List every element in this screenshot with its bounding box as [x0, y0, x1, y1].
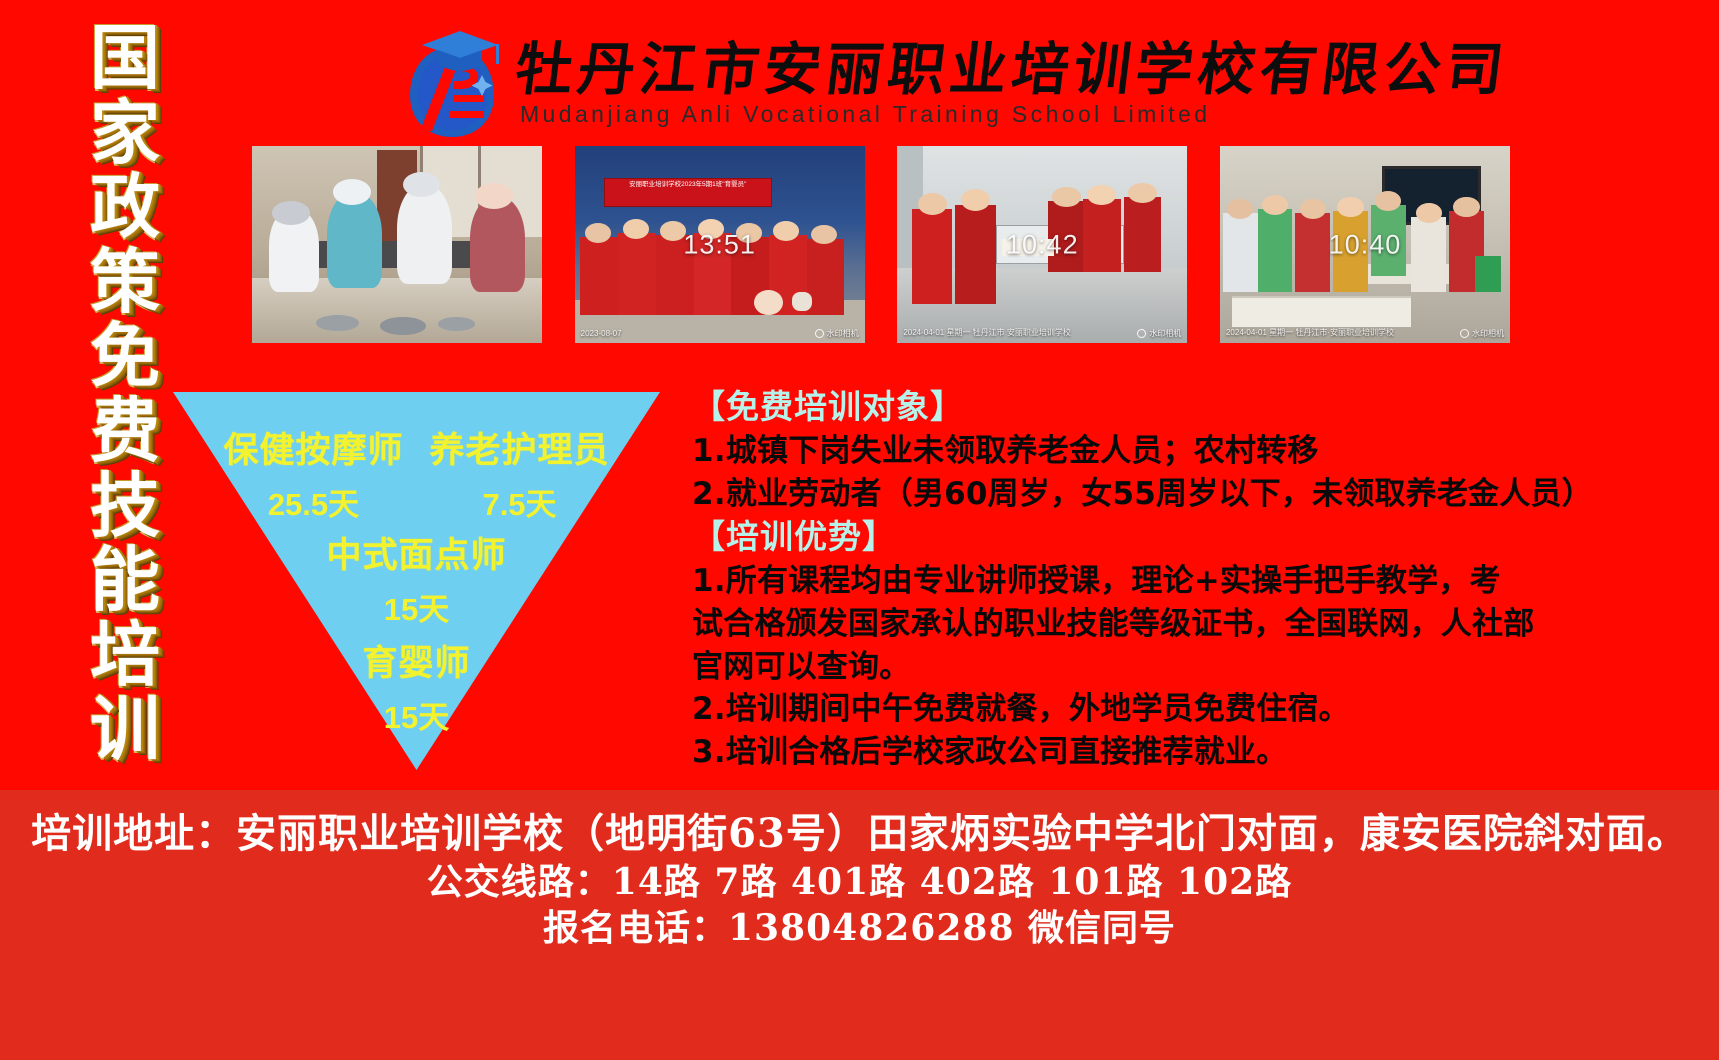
- info-target-item: 2.就业劳动者（男60周岁，女55周岁以下，未领取养老金人员）: [692, 473, 1692, 516]
- info-advantage-item: 官网可以查询。: [692, 646, 1692, 689]
- photo-classroom: 10:40 2024-04-01 星期一 牡丹江市·安丽职业培训学校 水印相机: [1220, 146, 1510, 343]
- footer: 培训地址：安丽职业培训学校（地明街63号）田家炳实验中学北门对面，康安医院斜对面…: [0, 790, 1719, 1060]
- course-item-pastry: 中式面点师 15天: [173, 527, 660, 629]
- photo-strip: 安丽职业培训学校2023年5期1班"育婴员" 13: [252, 146, 1510, 343]
- course-item-massage: 保健按摩师 25.5天: [223, 422, 403, 524]
- vertical-title-char: 政: [90, 173, 160, 242]
- course-days: 15天: [173, 584, 660, 629]
- poster-root: 国 家 政 策 免 费 技 能 培 训: [0, 0, 1719, 1060]
- info-block: 【免费培训对象】 1.城镇下岗失业未领取养老金人员；农村转移 2.就业劳动者（男…: [692, 386, 1692, 774]
- course-days: 7.5天: [482, 479, 556, 524]
- photo-banner: 安丽职业培训学校2023年5期1班"育婴员": [604, 178, 772, 208]
- vertical-title-char: 免: [90, 322, 160, 391]
- photo-timestamp: 10:40: [1329, 229, 1402, 260]
- photo-timestamp: 10:42: [1006, 229, 1079, 260]
- course-name: 养老护理员: [430, 422, 610, 473]
- photo-watermark-label: 水印相机: [827, 328, 859, 339]
- school-name-cn: 牡丹江市安丽职业培训学校有限公司: [512, 40, 1511, 100]
- course-triangle: 保健按摩师 25.5天 养老护理员 7.5天 中式面点师 15天 育婴师 15天: [173, 392, 660, 770]
- info-heading-target: 【免费培训对象】: [692, 386, 1692, 428]
- vertical-title-char: 能: [90, 546, 160, 615]
- course-name: 中式面点师: [173, 527, 660, 578]
- photo-meta: 2023-08-07: [581, 329, 622, 338]
- header: 牡丹江市安丽职业培训学校有限公司 Mudanjiang Anli Vocatio…: [398, 24, 1298, 144]
- info-advantage-item: 2.培训期间中午免费就餐，外地学员免费住宿。: [692, 688, 1692, 731]
- vertical-title-char: 培: [90, 621, 160, 690]
- graduation-cap-book-logo-icon: [398, 25, 506, 143]
- photo-watermark-brand: 水印相机: [815, 328, 859, 339]
- photo-baking-class: [252, 146, 542, 343]
- camera-icon: [1137, 329, 1146, 338]
- photo-watermark-label: 水印相机: [1149, 328, 1181, 339]
- vertical-title-char: 家: [90, 99, 160, 168]
- course-row-top: 保健按摩师 25.5天 养老护理员 7.5天: [173, 422, 660, 524]
- photo-watermark-brand: 水印相机: [1137, 328, 1181, 339]
- info-advantage-item: 试合格颁发国家承认的职业技能等级证书，全国联网，人社部: [692, 603, 1692, 646]
- vertical-title-char: 技: [90, 472, 160, 541]
- info-advantage-item: 1.所有课程均由专业讲师授课，理论+实操手把手教学，考: [692, 560, 1692, 603]
- footer-address: 培训地址：安丽职业培训学校（地明街63号）田家炳实验中学北门对面，康安医院斜对面…: [0, 808, 1719, 859]
- info-target-item: 1.城镇下岗失业未领取养老金人员；农村转移: [692, 430, 1692, 473]
- vertical-title-char: 策: [90, 248, 160, 317]
- photo-group-banner: 安丽职业培训学校2023年5期1班"育婴员" 13: [575, 146, 865, 343]
- course-name: 育婴师: [173, 635, 660, 686]
- course-days: 25.5天: [268, 479, 359, 524]
- info-advantage-item: 3.培训合格后学校家政公司直接推荐就业。: [692, 731, 1692, 774]
- vertical-title: 国 家 政 策 免 费 技 能 培 训: [62, 24, 188, 764]
- camera-icon: [815, 329, 824, 338]
- photo-meta: 2024-04-01 星期一 牡丹江市·安丽职业培训学校: [1226, 327, 1394, 338]
- photo-meta: 2024-04-01 星期一 牡丹江市 安丽职业培训学校: [903, 327, 1071, 338]
- photo-watermark-brand: 水印相机: [1460, 328, 1504, 339]
- photo-banner-text: 安丽职业培训学校2023年5期1班"育婴员": [605, 179, 771, 191]
- vertical-title-char: 国: [90, 24, 160, 93]
- course-item-infantcare: 育婴师 15天: [173, 635, 660, 737]
- photo-watermark-label: 水印相机: [1472, 328, 1504, 339]
- camera-icon: [1460, 329, 1469, 338]
- vertical-title-char: 费: [90, 397, 160, 466]
- course-days: 15天: [173, 692, 660, 737]
- footer-inner: 培训地址：安丽职业培训学校（地明街63号）田家炳实验中学北门对面，康安医院斜对面…: [0, 808, 1719, 951]
- photo-ward-practice: 10:42 2024-04-01 星期一 牡丹江市 安丽职业培训学校 水印相机: [897, 146, 1187, 343]
- photo-scene: [252, 146, 542, 343]
- photo-timestamp: 13:51: [683, 229, 756, 260]
- school-name-en: Mudanjiang Anli Vocational Training Scho…: [516, 101, 1508, 128]
- course-item-eldercare: 养老护理员 7.5天: [430, 422, 610, 524]
- vertical-title-char: 训: [90, 695, 160, 764]
- course-name: 保健按摩师: [223, 422, 403, 473]
- footer-bus-routes: 公交线路：14路 7路 401路 402路 101路 102路: [0, 859, 1719, 905]
- header-text: 牡丹江市安丽职业培训学校有限公司 Mudanjiang Anli Vocatio…: [516, 40, 1508, 129]
- info-heading-advantage: 【培训优势】: [692, 516, 1692, 558]
- footer-phone: 报名电话：13804826288 微信同号: [0, 905, 1719, 951]
